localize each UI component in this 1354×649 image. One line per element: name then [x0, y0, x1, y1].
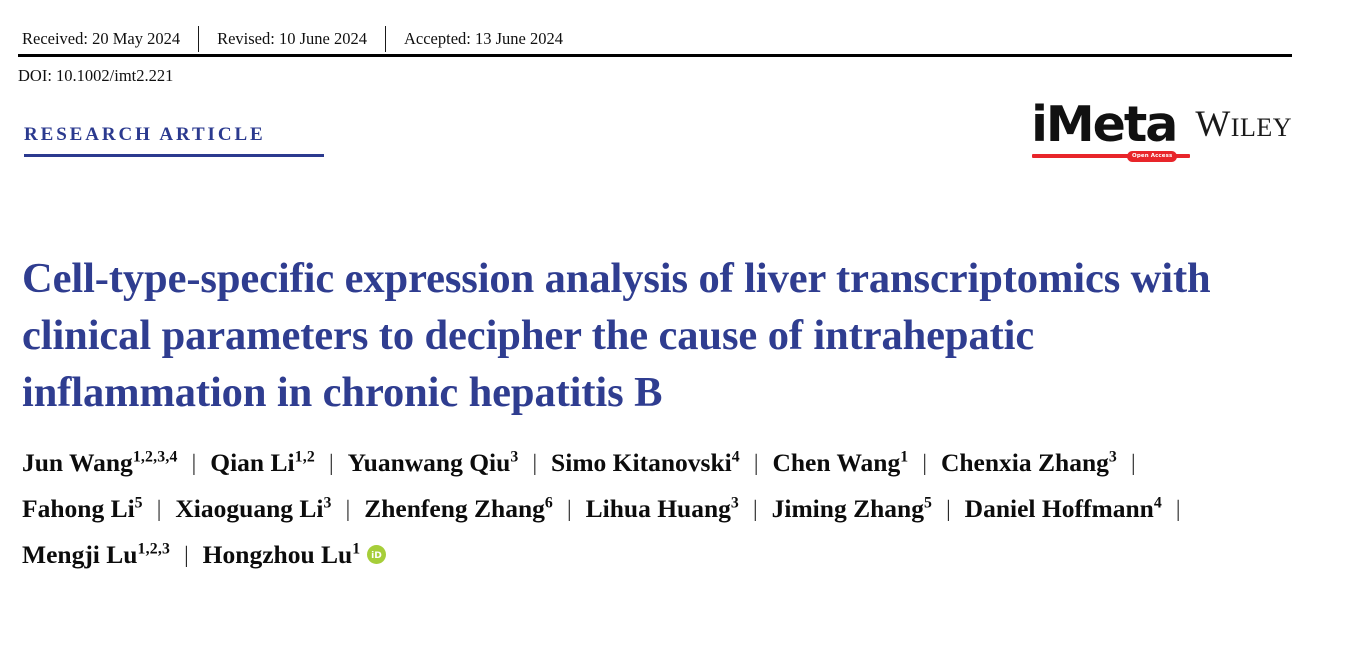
article-type-rule	[24, 154, 324, 157]
author-separator: |	[315, 440, 348, 485]
author-name-text: Jun Wang	[22, 448, 133, 477]
author-affiliation-marker: 3	[1109, 449, 1117, 466]
author-affiliation-marker: 3	[731, 495, 739, 512]
author-name[interactable]: Chen Wang1	[772, 448, 908, 477]
author-name-text: Chen Wang	[772, 448, 900, 477]
author-name[interactable]: Jiming Zhang5	[772, 494, 932, 523]
author-separator: |	[908, 440, 941, 485]
author-separator: |	[518, 440, 551, 485]
author-affiliation-marker: 1,2,3	[137, 541, 170, 558]
publication-history: Received: 20 May 2024Revised: 10 June 20…	[18, 26, 1292, 52]
author-name[interactable]: Jun Wang1,2,3,4	[22, 448, 178, 477]
author-affiliation-marker: 1,2,3,4	[133, 449, 178, 466]
author-separator: |	[178, 440, 211, 485]
article-type-block: RESEARCH ARTICLE	[24, 122, 344, 157]
author-name[interactable]: Fahong Li5	[22, 494, 143, 523]
author-separator: |	[739, 486, 772, 531]
author-affiliation-marker: 6	[545, 495, 553, 512]
author-affiliation-marker: 4	[732, 449, 740, 466]
author-separator: |	[143, 486, 176, 531]
author-separator: |	[170, 532, 203, 577]
author-name-text: Jiming Zhang	[772, 494, 924, 523]
author-name[interactable]: Daniel Hoffmann4	[965, 494, 1162, 523]
author-affiliation-marker: 5	[924, 495, 932, 512]
article-first-page: Received: 20 May 2024Revised: 10 June 20…	[0, 0, 1354, 649]
history-item: Revised: 10 June 2024	[217, 26, 385, 52]
author-separator: |	[1162, 486, 1195, 531]
author-name-text: Mengji Lu	[22, 540, 137, 569]
author-name[interactable]: Yuanwang Qiu3	[348, 448, 519, 477]
author-affiliation-marker: 1	[352, 541, 360, 558]
author-name[interactable]: Mengji Lu1,2,3	[22, 540, 170, 569]
doi-line: DOI: 10.1002/imt2.221	[18, 64, 173, 88]
history-item: Accepted: 13 June 2024	[404, 26, 581, 52]
author-name-text: Fahong Li	[22, 494, 135, 523]
author-name-text: Zhenfeng Zhang	[364, 494, 545, 523]
author-affiliation-marker: 3	[510, 449, 518, 466]
author-separator: |	[932, 486, 965, 531]
author-list: Jun Wang1,2,3,4|Qian Li1,2|Yuanwang Qiu3…	[22, 440, 1232, 578]
author-name[interactable]: Zhenfeng Zhang6	[364, 494, 553, 523]
author-separator: |	[553, 486, 586, 531]
author-separator: |	[332, 486, 365, 531]
page-title: Cell-type-specific expression analysis o…	[22, 250, 1272, 421]
article-type-label: RESEARCH ARTICLE	[24, 122, 344, 148]
author-name-text: Yuanwang Qiu	[348, 448, 511, 477]
orcid-icon[interactable]: iD	[367, 533, 386, 552]
author-name-text: Xiaoguang Li	[175, 494, 323, 523]
svg-text:iD: iD	[371, 551, 382, 561]
author-separator: |	[740, 440, 773, 485]
author-affiliation-marker: 3	[323, 495, 331, 512]
imeta-wordmark: iMeta	[1031, 100, 1176, 150]
author-name-text: Qian Li	[210, 448, 294, 477]
history-separator	[385, 26, 386, 52]
author-name[interactable]: Xiaoguang Li3	[175, 494, 331, 523]
author-affiliation-marker: 5	[135, 495, 143, 512]
author-name-text: Chenxia Zhang	[941, 448, 1109, 477]
author-name[interactable]: Lihua Huang3	[586, 494, 739, 523]
author-affiliation-marker: 4	[1154, 495, 1162, 512]
wiley-wordmark: Wiley	[1195, 100, 1292, 150]
author-name-text: Hongzhou Lu	[203, 540, 353, 569]
author-separator: |	[1117, 440, 1150, 485]
author-name-text: Lihua Huang	[586, 494, 731, 523]
author-affiliation-marker: 1	[900, 449, 908, 466]
open-access-badge: Open Access	[1127, 151, 1177, 162]
author-name[interactable]: Simo Kitanovski4	[551, 448, 740, 477]
author-name-text: Daniel Hoffmann	[965, 494, 1154, 523]
history-separator	[198, 26, 199, 52]
author-name[interactable]: Hongzhou Lu1iD	[203, 540, 387, 569]
author-name[interactable]: Qian Li1,2	[210, 448, 315, 477]
journal-branding: iMeta Open Access Wiley	[1031, 100, 1292, 164]
history-item: Received: 20 May 2024	[18, 26, 198, 52]
history-divider-rule	[18, 54, 1292, 57]
imeta-logo[interactable]: iMeta Open Access	[1031, 100, 1176, 162]
author-name[interactable]: Chenxia Zhang3	[941, 448, 1117, 477]
author-affiliation-marker: 1,2	[295, 449, 315, 466]
author-name-text: Simo Kitanovski	[551, 448, 732, 477]
